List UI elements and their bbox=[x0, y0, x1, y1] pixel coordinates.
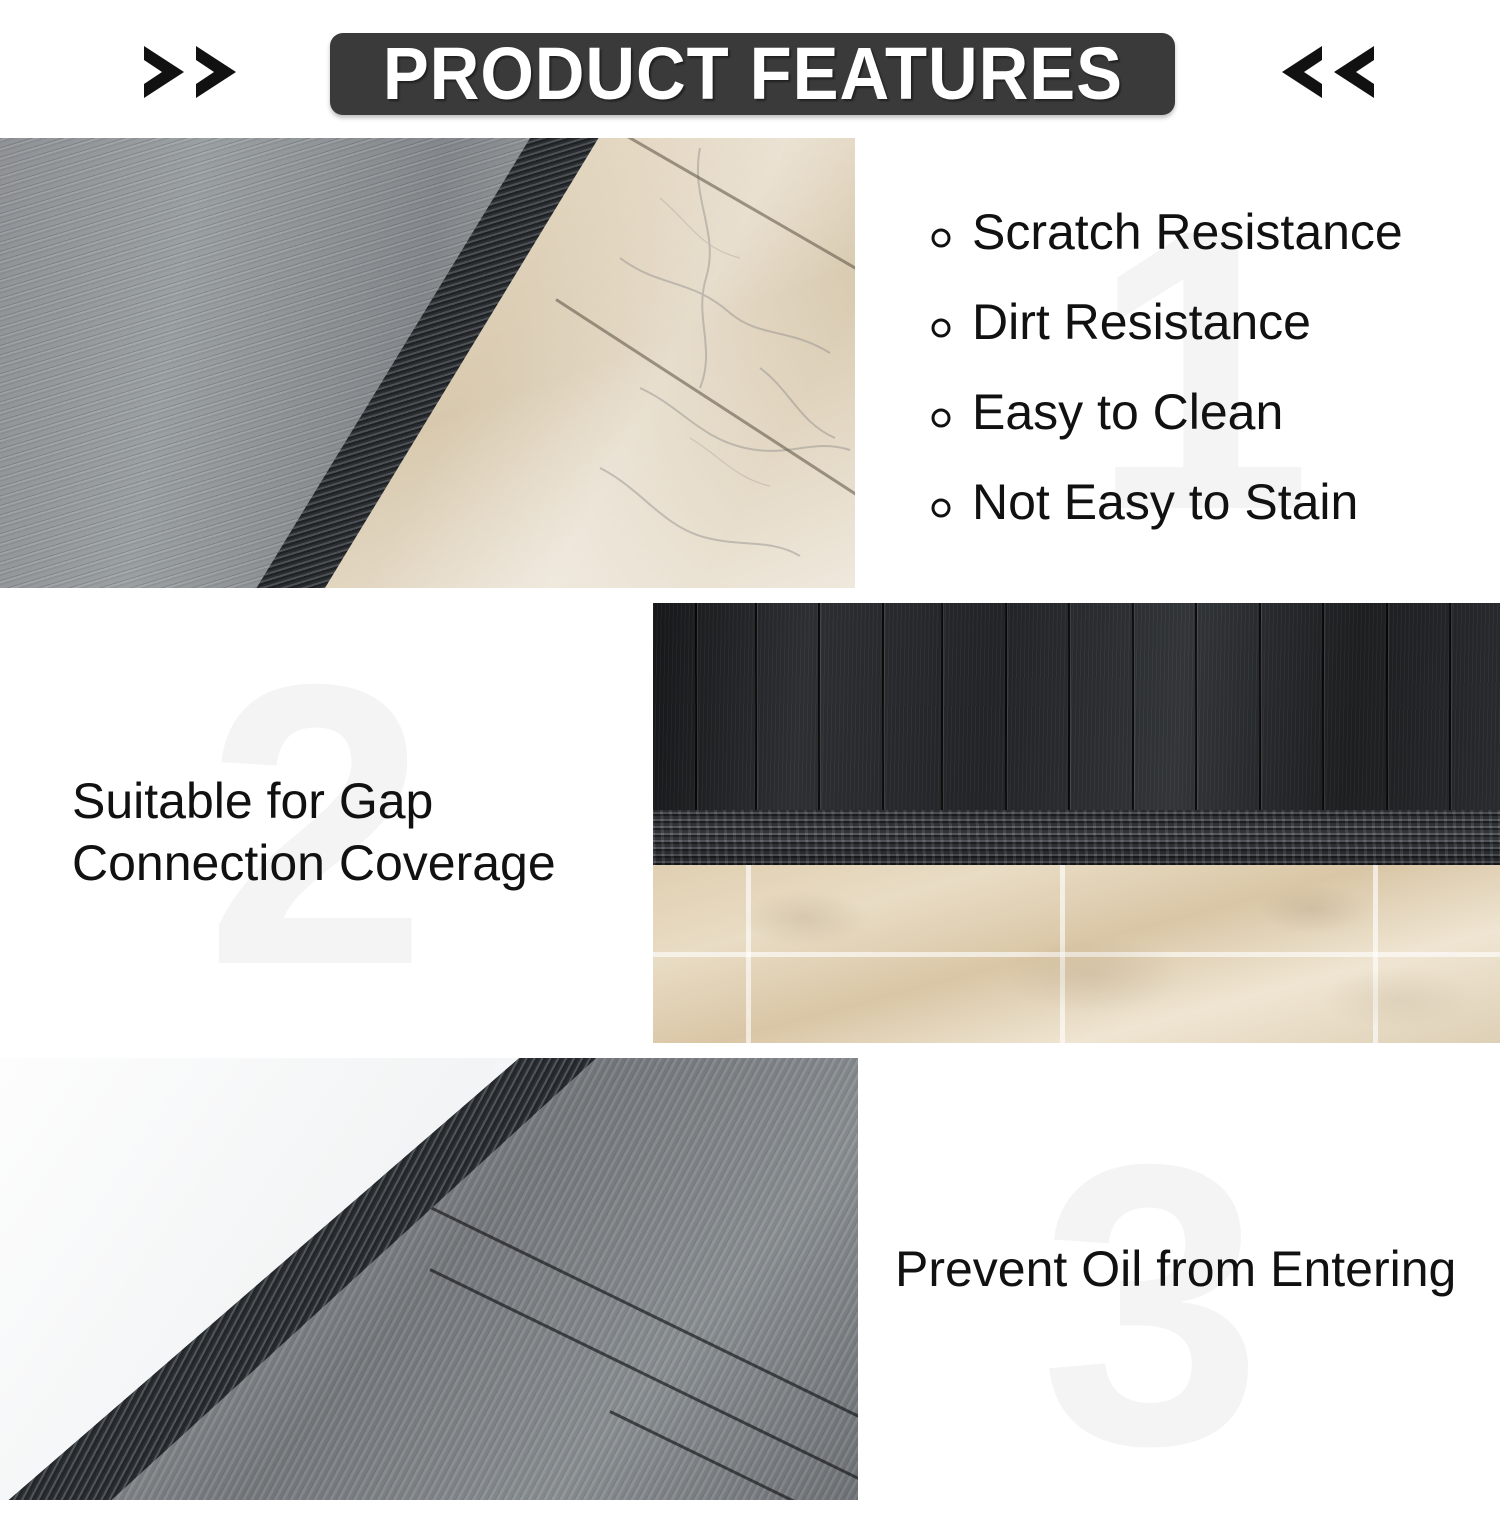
transition-strip bbox=[653, 810, 1500, 865]
hollow-circle-bullet-icon bbox=[930, 479, 972, 519]
page-title: PRODUCT FEATURES bbox=[382, 37, 1122, 111]
hollow-circle-bullet-icon bbox=[930, 389, 972, 429]
feature-label: Dirt Resistance bbox=[972, 295, 1311, 349]
caption-line: Suitable for Gap bbox=[72, 770, 632, 832]
feature-label: Scratch Resistance bbox=[972, 205, 1403, 259]
double-chevron-left-icon bbox=[1272, 44, 1382, 100]
dark-plank-transition-strip-travertine-photo bbox=[653, 603, 1500, 1043]
list-item: Easy to Clean bbox=[930, 385, 1490, 439]
feature-label: Not Easy to Stain bbox=[972, 475, 1358, 529]
section-number-watermark-3: 3 bbox=[1040, 1105, 1262, 1505]
header: PRODUCT FEATURES bbox=[0, 0, 1500, 138]
wood-grain-texture bbox=[653, 603, 1500, 810]
caption-line: Connection Coverage bbox=[72, 832, 632, 894]
list-item: Dirt Resistance bbox=[930, 295, 1490, 349]
section-2-caption: Suitable for Gap Connection Coverage bbox=[72, 770, 632, 894]
grey-plank-meets-marble-tile-photo bbox=[0, 138, 855, 588]
feature-list: Scratch Resistance Dirt Resistance Easy … bbox=[930, 205, 1490, 565]
section-3-caption: Prevent Oil from Entering bbox=[895, 1238, 1495, 1300]
feature-label: Easy to Clean bbox=[972, 385, 1283, 439]
double-chevron-right-icon bbox=[140, 44, 250, 100]
list-item: Not Easy to Stain bbox=[930, 475, 1490, 529]
white-surface-diagonal-moulding-grey-plank-photo bbox=[0, 1058, 858, 1500]
hollow-circle-bullet-icon bbox=[930, 209, 972, 249]
infographic-canvas: PRODUCT FEATURES bbox=[0, 0, 1500, 1500]
list-item: Scratch Resistance bbox=[930, 205, 1490, 259]
hollow-circle-bullet-icon bbox=[930, 299, 972, 339]
page-title-badge: PRODUCT FEATURES bbox=[330, 33, 1175, 115]
tile-mottling bbox=[653, 865, 1500, 1043]
